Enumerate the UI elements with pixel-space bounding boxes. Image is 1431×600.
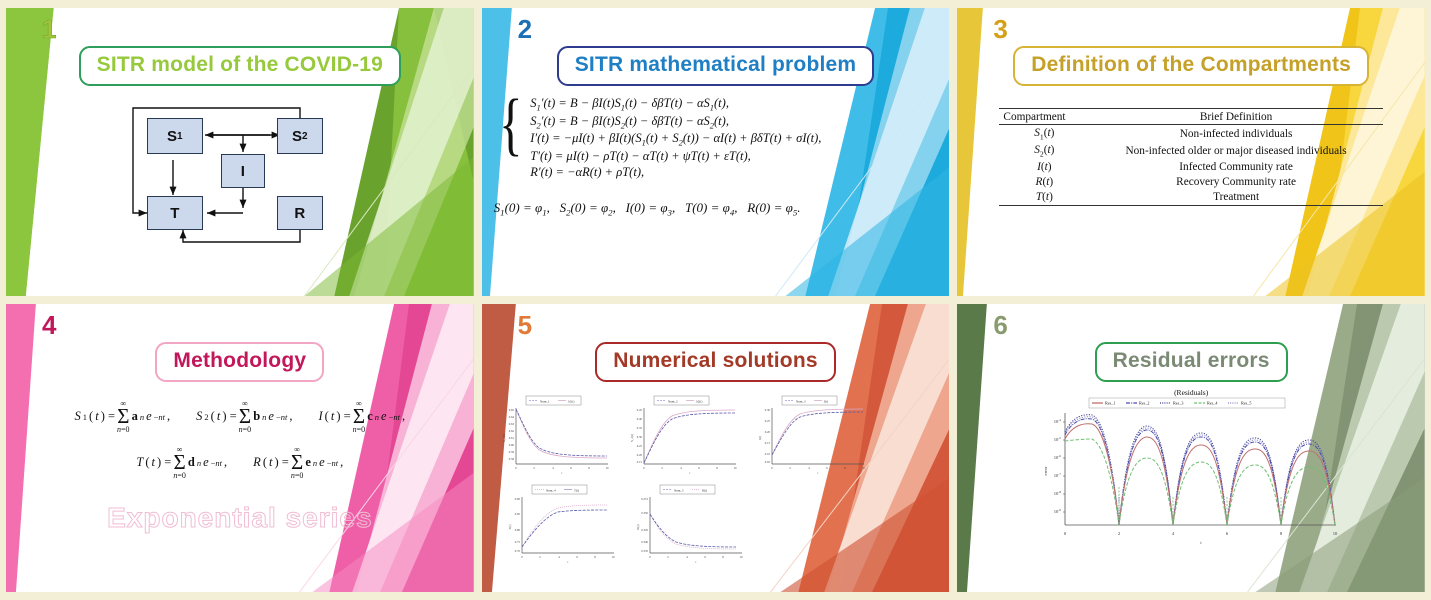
svg-text:0.45: 0.45 xyxy=(636,408,642,412)
slide-3[interactable]: 3 Definition of the Compartments Compart… xyxy=(957,8,1425,296)
svg-text:6: 6 xyxy=(576,555,578,559)
svg-text:I(t): I(t) xyxy=(824,400,828,404)
chart-r: Num_5 R(t) 0.3510.3500.345 0.3400.335 02… xyxy=(630,481,748,566)
svg-text:0.62: 0.62 xyxy=(508,429,514,433)
slide-title: SITR model of the COVID-19 xyxy=(79,46,401,86)
chart-title: (Residuals) xyxy=(1031,388,1351,397)
svg-text:0.75: 0.75 xyxy=(514,540,520,544)
svg-text:0.15: 0.15 xyxy=(764,441,770,445)
cell-definition: Infected Community rate xyxy=(1089,160,1383,175)
svg-text:Res_5: Res_5 xyxy=(1241,401,1251,406)
cell-compartment: I(t) xyxy=(999,160,1089,175)
svg-text:Num_4: Num_4 xyxy=(546,489,556,493)
svg-text:Res_3: Res_3 xyxy=(1173,401,1183,406)
svg-text:Num_3: Num_3 xyxy=(796,400,806,404)
equation-line: I′(t) = −μI(t) + βI(t)(S1(t) + S2(t)) − … xyxy=(530,131,821,148)
svg-text:10-8: 10-8 xyxy=(1054,490,1062,496)
node-i: I xyxy=(221,154,265,188)
svg-text:Num_2: Num_2 xyxy=(668,400,678,404)
equation-system-block: { S1′(t) = B − βI(t)S1(t) − δβT(t) − αS1… xyxy=(482,96,950,217)
svg-text:2: 2 xyxy=(667,555,669,559)
cell-definition: Non-infected individuals xyxy=(1089,125,1383,143)
slide-4[interactable]: 4 Methodology S1(t) = ∞Σn=0 ane−nt, S2(t… xyxy=(6,304,474,592)
slide-2[interactable]: 2 SITR mathematical problem { S1′(t) = B… xyxy=(482,8,950,296)
svg-text:4: 4 xyxy=(680,466,682,470)
series-equation-row: T(t) = ∞Σn=0 dne−nt, R(t) = ∞Σn=0 ene−nt… xyxy=(75,446,406,480)
initial-conditions: S1(0) = φ1, S2(0) = φ2, I(0) = φ3, T(0) … xyxy=(494,200,950,218)
table-header-row: Compartment Brief Definition xyxy=(999,109,1382,125)
equation-line: R′(t) = −αR(t) + ρT(t), xyxy=(530,165,821,180)
svg-text:6: 6 xyxy=(698,466,700,470)
svg-text:10-6: 10-6 xyxy=(1054,454,1062,460)
svg-text:0.70: 0.70 xyxy=(514,549,520,553)
cell-compartment: S1(t) xyxy=(999,125,1089,143)
svg-text:10-5: 10-5 xyxy=(1054,436,1062,442)
svg-text:0.30: 0.30 xyxy=(636,435,642,439)
svg-text:4: 4 xyxy=(558,555,560,559)
svg-text:0.25: 0.25 xyxy=(764,419,770,423)
table-row: I(t) Infected Community rate xyxy=(999,160,1382,175)
plot-row-2: Num_4 T(t) 0.900.850.80 0.750.70 024 681… xyxy=(496,481,936,566)
slide-grid-page: 1 SITR model of the COVID-19 xyxy=(0,0,1431,600)
node-s1: S1 xyxy=(147,118,203,154)
svg-text:0.90: 0.90 xyxy=(514,497,520,501)
svg-text:0.40: 0.40 xyxy=(636,417,642,421)
equation-line: S2′(t) = B − βI(t)S2(t) − δβT(t) − αS2(t… xyxy=(530,114,821,131)
svg-text:S_2(t): S_2(t) xyxy=(630,434,634,442)
series-equation-t: T(t) = ∞Σn=0 dne−nt, xyxy=(136,446,227,480)
svg-text:Res_1: Res_1 xyxy=(1105,401,1115,406)
svg-text:10-9: 10-9 xyxy=(1054,508,1062,514)
cell-definition: Recovery Community rate xyxy=(1089,175,1383,190)
svg-text:0.61: 0.61 xyxy=(508,436,514,440)
svg-text:0.20: 0.20 xyxy=(636,453,642,457)
svg-text:S1(t): S1(t) xyxy=(568,400,574,404)
svg-text:4: 4 xyxy=(1172,531,1175,536)
svg-text:0.20: 0.20 xyxy=(764,430,770,434)
svg-text:0: 0 xyxy=(1064,531,1067,536)
svg-text:10: 10 xyxy=(605,466,609,470)
svg-text:8: 8 xyxy=(844,466,846,470)
svg-text:6: 6 xyxy=(1226,531,1229,536)
slide-grid: 1 SITR model of the COVID-19 xyxy=(0,0,1431,600)
cell-definition: Treatment xyxy=(1089,190,1383,206)
svg-text:8: 8 xyxy=(1280,531,1283,536)
svg-text:t: t xyxy=(567,560,568,564)
svg-text:S_1(t): S_1(t) xyxy=(502,434,506,442)
svg-text:0: 0 xyxy=(515,466,517,470)
svg-text:t: t xyxy=(561,471,562,475)
slide-title: Definition of the Compartments xyxy=(1013,46,1369,86)
svg-text:0.59: 0.59 xyxy=(508,450,514,454)
svg-text:4: 4 xyxy=(686,555,688,559)
equation-line: T′(t) = μI(t) − ρT(t) − αT(t) + ψT(t) + … xyxy=(530,149,821,164)
slide-number: 6 xyxy=(993,310,1006,341)
svg-text:T(t): T(t) xyxy=(574,489,579,493)
svg-text:0.64: 0.64 xyxy=(508,415,514,419)
svg-text:10: 10 xyxy=(733,466,737,470)
svg-text:0.345: 0.345 xyxy=(641,528,648,532)
svg-text:6: 6 xyxy=(704,555,706,559)
svg-text:10: 10 xyxy=(611,555,615,559)
node-t: T xyxy=(147,196,203,230)
svg-text:0.63: 0.63 xyxy=(508,422,514,426)
svg-text:0: 0 xyxy=(643,466,645,470)
svg-text:10-4: 10-4 xyxy=(1054,418,1062,424)
svg-text:0.35: 0.35 xyxy=(636,426,642,430)
series-equation-row: S1(t) = ∞Σn=0 ane−nt, S2(t) = ∞Σn=0 bne−… xyxy=(75,400,406,434)
svg-text:0.350: 0.350 xyxy=(641,511,648,515)
residual-plot-svg: Res_1 Res_2 Res_3 Res_4 Res_5 10- xyxy=(1031,397,1351,547)
svg-text:0.05: 0.05 xyxy=(764,460,770,464)
column-header-compartment: Compartment xyxy=(999,109,1089,125)
svg-text:4: 4 xyxy=(808,466,810,470)
plot-row-1: Num_1 S1(t) 0.650.640.63 0.620.610.60 0.… xyxy=(496,392,936,477)
svg-text:10-7: 10-7 xyxy=(1054,472,1062,478)
svg-text:4: 4 xyxy=(552,466,554,470)
svg-text:I(t): I(t) xyxy=(758,436,762,440)
table-row: S2(t) Non-infected older or major diseas… xyxy=(999,142,1382,159)
series-equation-r: R(t) = ∞Σn=0 ene−nt, xyxy=(253,446,343,480)
table-row: T(t) Treatment xyxy=(999,190,1382,206)
svg-text:2: 2 xyxy=(789,466,791,470)
svg-text:0.80: 0.80 xyxy=(514,528,520,532)
svg-text:S2(t): S2(t) xyxy=(696,400,702,404)
svg-text:Res_4: Res_4 xyxy=(1207,401,1218,406)
svg-text:Num_1: Num_1 xyxy=(540,400,550,404)
svg-text:R(t): R(t) xyxy=(702,489,707,493)
svg-text:8: 8 xyxy=(716,466,718,470)
svg-text:2: 2 xyxy=(539,555,541,559)
cell-compartment: T(t) xyxy=(999,190,1089,206)
svg-text:t: t xyxy=(689,471,690,475)
svg-text:0: 0 xyxy=(649,555,651,559)
svg-text:t: t xyxy=(695,560,696,564)
svg-text:error: error xyxy=(1043,466,1048,475)
svg-text:0.335: 0.335 xyxy=(641,549,648,553)
svg-text:8: 8 xyxy=(588,466,590,470)
svg-text:Res_2: Res_2 xyxy=(1139,401,1149,406)
cell-compartment: S2(t) xyxy=(999,142,1089,159)
slide-number: 3 xyxy=(993,14,1006,45)
svg-text:t: t xyxy=(1201,540,1203,545)
compartment-definition-table: Compartment Brief Definition S1(t) Non-i… xyxy=(999,108,1382,206)
slide-number: 5 xyxy=(518,310,531,341)
slide-5[interactable]: 5 Numerical solutions Num_1 S1(t) 0.650.… xyxy=(482,304,950,592)
svg-text:6: 6 xyxy=(826,466,828,470)
chart-t: Num_4 T(t) 0.900.850.80 0.750.70 024 681… xyxy=(502,481,620,566)
svg-text:10: 10 xyxy=(861,466,865,470)
slide-title: SITR mathematical problem xyxy=(557,46,875,86)
column-header-definition: Brief Definition xyxy=(1089,109,1383,125)
svg-text:2: 2 xyxy=(661,466,663,470)
slide-6[interactable]: 6 Residual errors (Residuals) Res_1 Res_… xyxy=(957,304,1425,592)
svg-text:R(t): R(t) xyxy=(636,524,640,529)
svg-text:8: 8 xyxy=(722,555,724,559)
series-equation-s2: S2(t) = ∞Σn=0 bne−nt, xyxy=(196,400,292,434)
svg-text:0.60: 0.60 xyxy=(508,443,514,447)
table-row: R(t) Recovery Community rate xyxy=(999,175,1382,190)
svg-text:0.10: 0.10 xyxy=(764,452,770,456)
svg-text:0.340: 0.340 xyxy=(641,540,648,544)
numerical-solution-plots: Num_1 S1(t) 0.650.640.63 0.620.610.60 0.… xyxy=(482,392,950,566)
svg-text:0.15: 0.15 xyxy=(636,460,642,464)
chart-s2: Num_2 S2(t) 0.450.400.35 0.300.250.20 0.… xyxy=(624,392,742,477)
svg-text:0.65: 0.65 xyxy=(508,408,514,412)
chart-i: Num_3 I(t) 0.300.250.20 0.150.100.05 024… xyxy=(752,392,870,477)
svg-text:t: t xyxy=(817,471,818,475)
series-equations: S1(t) = ∞Σn=0 ane−nt, S2(t) = ∞Σn=0 bne−… xyxy=(75,400,406,492)
slide-number: 1 xyxy=(42,14,55,45)
svg-text:2: 2 xyxy=(533,466,535,470)
svg-text:2: 2 xyxy=(1118,531,1121,536)
table-row: S1(t) Non-infected individuals xyxy=(999,125,1382,143)
svg-text:0.351: 0.351 xyxy=(641,497,648,501)
svg-text:0.58: 0.58 xyxy=(508,457,514,461)
series-equation-i: I(t) = ∞Σn=0 cne−nt, xyxy=(319,400,406,434)
sitr-compartment-diagram: S1 S2 I T R xyxy=(125,100,355,250)
exponential-series-watermark: Exponential series xyxy=(107,502,372,534)
svg-text:0: 0 xyxy=(521,555,523,559)
svg-text:10: 10 xyxy=(739,555,743,559)
series-equation-s1: S1(t) = ∞Σn=0 ane−nt, xyxy=(75,400,171,434)
left-brace: { xyxy=(499,96,523,180)
slide-number: 4 xyxy=(42,310,55,341)
slide-title: Methodology xyxy=(155,342,324,382)
slide-1[interactable]: 1 SITR model of the COVID-19 xyxy=(6,8,474,296)
svg-text:0.85: 0.85 xyxy=(514,512,520,516)
equation-system: { S1′(t) = B − βI(t)S1(t) − δβT(t) − αS1… xyxy=(494,96,950,180)
svg-text:0.25: 0.25 xyxy=(636,444,642,448)
svg-text:10: 10 xyxy=(1333,531,1338,536)
svg-text:0: 0 xyxy=(771,466,773,470)
residual-error-chart: (Residuals) Res_1 Res_2 Res_3 Res_4 xyxy=(1031,388,1351,552)
slide-title: Numerical solutions xyxy=(595,342,836,382)
svg-text:8: 8 xyxy=(594,555,596,559)
slide-title: Residual errors xyxy=(1095,342,1288,382)
node-s2: S2 xyxy=(277,118,323,154)
svg-text:0.30: 0.30 xyxy=(764,408,770,412)
svg-text:Num_5: Num_5 xyxy=(674,489,684,493)
equation-line: S1′(t) = B − βI(t)S1(t) − δβT(t) − αS1(t… xyxy=(530,96,821,113)
cell-definition: Non-infected older or major diseased ind… xyxy=(1089,142,1383,159)
chart-s1: Num_1 S1(t) 0.650.640.63 0.620.610.60 0.… xyxy=(496,392,614,477)
slide-number: 2 xyxy=(518,14,531,45)
node-r: R xyxy=(277,196,323,230)
svg-text:T(t): T(t) xyxy=(508,525,512,530)
svg-text:6: 6 xyxy=(570,466,572,470)
cell-compartment: R(t) xyxy=(999,175,1089,190)
